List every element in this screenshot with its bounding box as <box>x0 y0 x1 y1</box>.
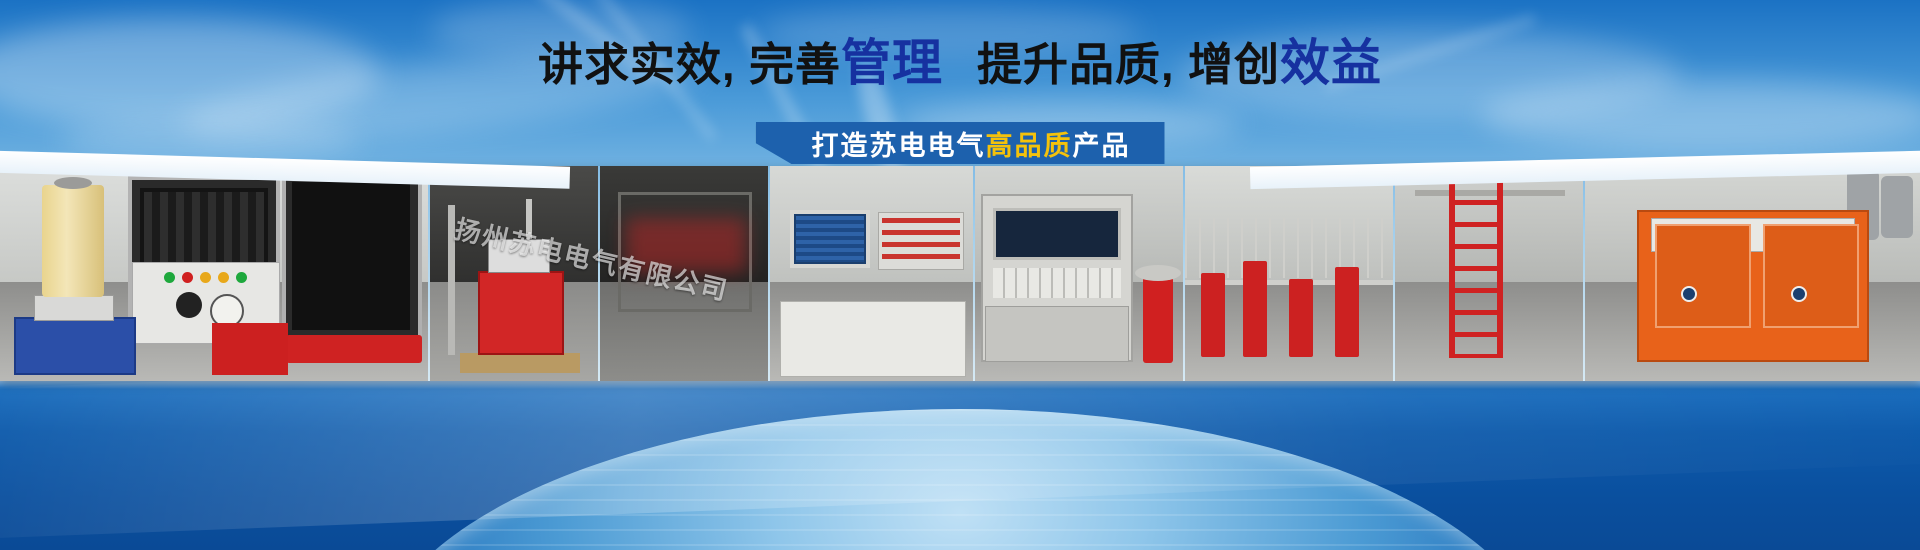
red-insulator <box>1289 279 1313 357</box>
indicator-led <box>182 272 193 283</box>
transformer-midsection <box>34 295 114 321</box>
equipment-case-interior <box>292 182 410 330</box>
purifier-access-door <box>1655 224 1751 328</box>
photo-pane-oil-purifier: 扬州苏电电气有限公司 <box>1585 166 1920 381</box>
red-accessory-bar <box>286 335 422 363</box>
red-insulator <box>1201 273 1225 357</box>
red-test-device <box>478 271 564 355</box>
photo-pane-test-tower <box>1395 166 1585 381</box>
photo-pane-test-console <box>770 166 975 381</box>
photo-pane-red-test-rig <box>430 166 600 381</box>
pressure-gauge <box>1791 286 1807 302</box>
cabinet-lower-section <box>985 306 1129 362</box>
photo-pane-portable-test-cases: 扬州苏电电气有限公司 <box>0 166 430 381</box>
ribbon-container: 打造苏电电气高品质产品 <box>0 122 1920 168</box>
support-pole <box>448 205 455 355</box>
globe-latitude-lines <box>370 409 1550 550</box>
photo-pane-dark-workshop <box>600 166 770 381</box>
monitor-screen <box>796 216 864 262</box>
cabinet-display <box>993 208 1121 260</box>
red-insulator <box>1335 267 1359 357</box>
headline-accent-2: 效益 <box>1280 35 1382 91</box>
product-photo-strip: 扬州苏电电气有限公司 <box>0 166 1920 381</box>
ribbon-prefix: 打造苏电电气 <box>812 131 986 161</box>
insulator-cap <box>1135 265 1181 281</box>
transformer-base <box>14 317 136 375</box>
red-insulator-post <box>1143 277 1173 363</box>
case-foam-insert <box>144 192 264 262</box>
banner-headline: 讲求实效, 完善管理提升品质, 增创效益 <box>0 38 1920 88</box>
headline-accent-1: 管理 <box>841 35 943 91</box>
background-fence <box>1185 218 1395 278</box>
indicator-led <box>200 272 211 283</box>
headline-segment-2: 提升品质, 增创 <box>977 39 1280 90</box>
transformer-cap <box>54 177 92 189</box>
red-ladder-tower <box>1449 178 1503 358</box>
red-carry-case <box>212 323 288 375</box>
promo-banner: 讲求实效, 完善管理提升品质, 增创效益 打造苏电电气高品质产品 <box>0 0 1920 550</box>
control-knob <box>176 292 202 318</box>
transformer-column <box>42 185 104 297</box>
wooden-pallet <box>460 353 580 373</box>
pressure-gauge <box>1681 286 1697 302</box>
indicator-led <box>218 272 229 283</box>
control-button-rows <box>882 218 960 264</box>
cabinet-button-row <box>993 268 1121 298</box>
red-glow-light <box>626 218 746 272</box>
ribbon-suffix: 产品 <box>1073 131 1131 161</box>
console-desk <box>780 301 966 377</box>
banner-footer <box>0 381 1920 550</box>
ribbon-highlight: 高品质 <box>986 131 1073 161</box>
vacuum-drum <box>1881 176 1913 238</box>
purifier-access-door <box>1763 224 1859 328</box>
indicator-led <box>236 272 247 283</box>
headline-segment-1: 讲求实效, 完善 <box>538 39 841 90</box>
photo-pane-control-cabinet <box>975 166 1185 381</box>
device-top-module <box>488 239 550 273</box>
red-insulator <box>1243 261 1267 357</box>
photo-pane-insulator-row <box>1185 166 1395 381</box>
indicator-led <box>164 272 175 283</box>
slogan-ribbon: 打造苏电电气高品质产品 <box>756 122 1165 164</box>
ribbon-text: 打造苏电电气高品质产品 <box>812 124 1131 163</box>
footer-edge-glow <box>0 381 1920 389</box>
